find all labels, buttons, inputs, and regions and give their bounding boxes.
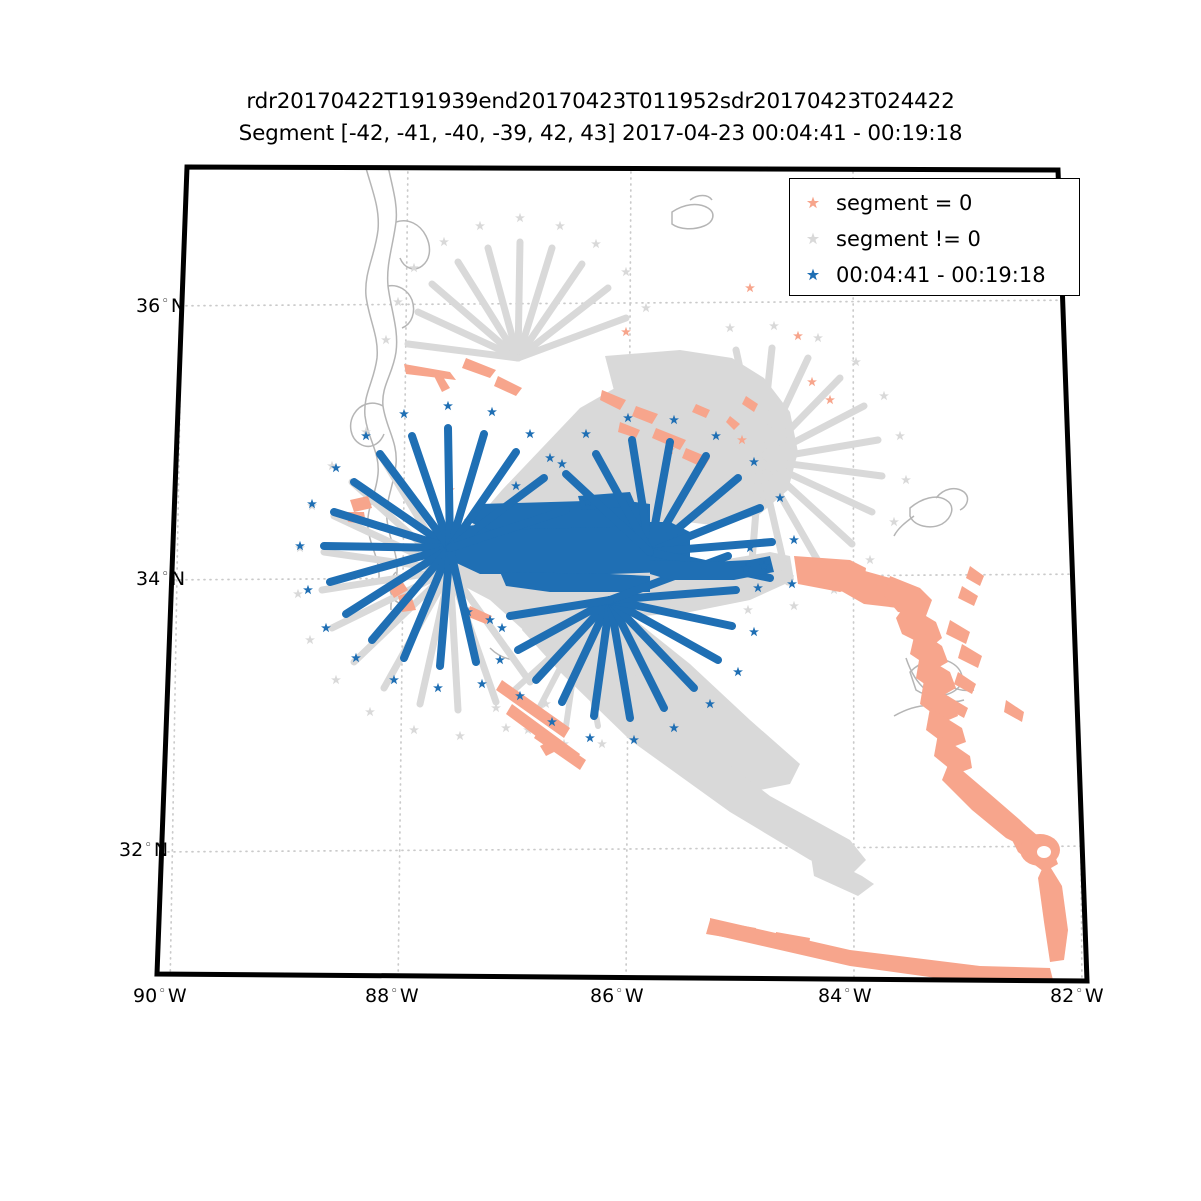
xtick-label-90: 90◦W: [133, 985, 187, 1007]
degree-icon: ◦: [161, 294, 169, 309]
xtick-label-88: 88◦W: [365, 985, 419, 1007]
ytick-value-34: 34: [136, 568, 160, 590]
xtick-value-82: 82: [1050, 985, 1074, 1007]
legend-label-segment-zero: segment = 0: [836, 191, 972, 215]
xtick-value-84: 84: [818, 985, 842, 1007]
xtick-suffix-82: W: [1085, 985, 1104, 1007]
legend-label-time-range: 00:04:41 - 00:19:18: [836, 263, 1046, 287]
xtick-suffix-84: W: [853, 985, 872, 1007]
degree-icon: ◦: [615, 984, 623, 999]
degree-icon: ◦: [161, 567, 169, 582]
legend-item-time-range[interactable]: 00:04:41 - 00:19:18: [790, 257, 1081, 293]
legend-box[interactable]: segment = 0 segment != 0 00:04:41 - 00:1…: [789, 178, 1080, 296]
degree-icon: ◦: [390, 984, 398, 999]
degree-icon: ◦: [843, 984, 851, 999]
legend-item-segment-not-zero[interactable]: segment != 0: [790, 221, 1081, 257]
figure-canvas: rdr20170422T191939end20170423T011952sdr2…: [0, 0, 1201, 1201]
ytick-suffix-34: N: [171, 568, 185, 590]
ytick-value-36: 36: [136, 295, 160, 317]
xtick-suffix-88: W: [400, 985, 419, 1007]
legend-item-segment-zero[interactable]: segment = 0: [790, 185, 1081, 221]
title-line-2: Segment [-42, -41, -40, -39, 42, 43] 201…: [0, 118, 1201, 150]
xtick-label-86: 86◦W: [590, 985, 644, 1007]
degree-icon: ◦: [144, 838, 152, 853]
legend-label-segment-not-zero: segment != 0: [836, 227, 981, 251]
degree-icon: ◦: [158, 984, 166, 999]
ytick-suffix-36: N: [171, 295, 185, 317]
ytick-label-36: 36◦N: [136, 295, 185, 317]
title-line-1: rdr20170422T191939end20170423T011952sdr2…: [0, 86, 1201, 118]
ytick-suffix-32: N: [154, 839, 168, 861]
figure-title: rdr20170422T191939end20170423T011952sdr2…: [0, 86, 1201, 150]
xtick-suffix-86: W: [625, 985, 644, 1007]
legend-marker-segment-not-zero-icon: [790, 230, 836, 248]
degree-icon: ◦: [1075, 984, 1083, 999]
xtick-value-90: 90: [133, 985, 157, 1007]
ytick-value-32: 32: [119, 839, 143, 861]
xtick-suffix-90: W: [168, 985, 187, 1007]
legend-marker-segment-zero-icon: [790, 194, 836, 212]
xtick-value-88: 88: [365, 985, 389, 1007]
xtick-value-86: 86: [590, 985, 614, 1007]
ytick-label-32: 32◦N: [119, 839, 168, 861]
legend-marker-time-range-icon: [790, 266, 836, 284]
ytick-label-34: 34◦N: [136, 568, 185, 590]
xtick-label-84: 84◦W: [818, 985, 872, 1007]
xtick-label-82: 82◦W: [1050, 985, 1104, 1007]
